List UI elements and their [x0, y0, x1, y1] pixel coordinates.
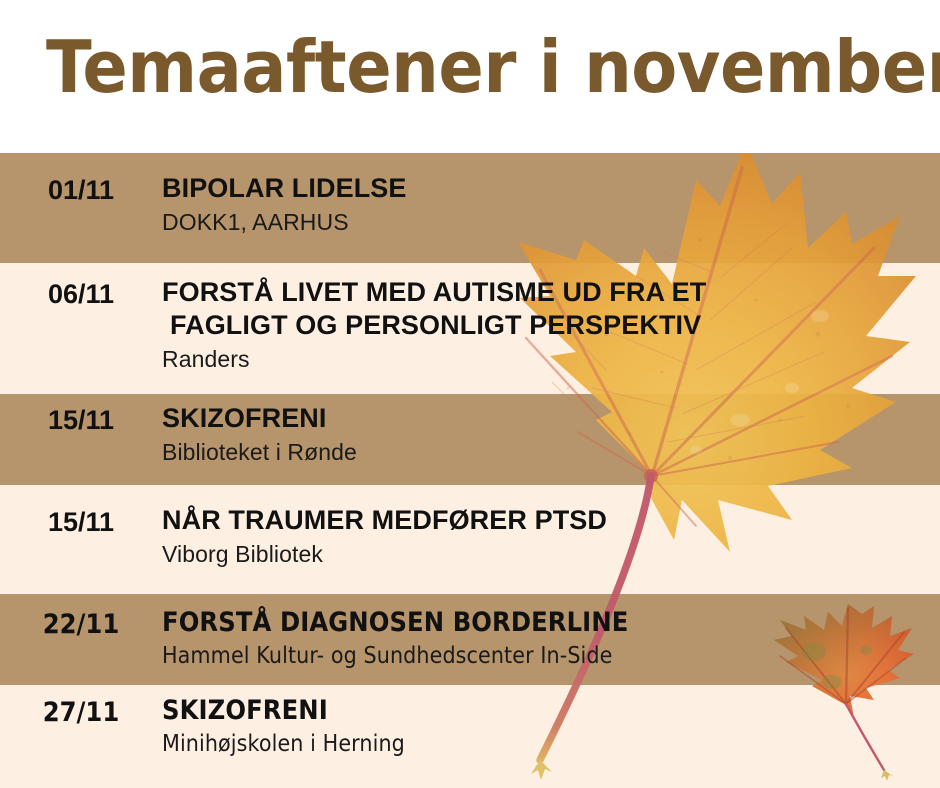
event-date: 27/11: [8, 694, 154, 729]
event-row: 22/11 FORSTÅ DIAGNOSEN BORDERLINE Hammel…: [0, 606, 940, 671]
event-date: 06/11: [0, 276, 162, 311]
event-row: 15/11 SKIZOFRENI Biblioteket i Rønde: [0, 402, 940, 467]
event-title-line1: SKIZOFRENI: [162, 695, 328, 726]
event-body: FORSTÅ DIAGNOSEN BORDERLINE Hammel Kultu…: [162, 606, 940, 671]
event-venue: DOKK1, AARHUS: [162, 205, 940, 237]
event-title: SKIZOFRENI: [162, 402, 940, 435]
page-title: Temaaftener i november: [46, 24, 846, 110]
event-body: NÅR TRAUMER MEDFØRER PTSD Viborg Bibliot…: [162, 504, 940, 569]
event-title-line1: NÅR TRAUMER MEDFØRER PTSD: [162, 505, 607, 535]
event-title-line1: BIPOLAR LIDELSE: [162, 173, 407, 203]
event-venue: Biblioteket i Rønde: [162, 435, 940, 467]
event-title: NÅR TRAUMER MEDFØRER PTSD: [162, 504, 940, 537]
event-title-line1: SKIZOFRENI: [162, 403, 327, 433]
event-body: SKIZOFRENI Biblioteket i Rønde: [162, 402, 940, 467]
event-row: 27/11 SKIZOFRENI Minihøjskolen i Herning: [0, 694, 940, 759]
event-row: 06/11 FORSTÅ LIVET MED AUTISME UD FRA ET…: [0, 276, 940, 374]
event-title-line2: FAGLIGT OG PERSONLIGT PERSPEKTIV: [162, 309, 940, 342]
event-venue: Minihøjskolen i Herning: [162, 727, 862, 759]
event-row: 01/11 BIPOLAR LIDELSE DOKK1, AARHUS: [0, 172, 940, 237]
event-venue: Hammel Kultur- og Sundhedscenter In-Side: [162, 639, 862, 671]
event-date: 22/11: [8, 606, 154, 641]
poster-canvas: Temaaftener i november 01/11 BIPOLAR LID…: [0, 0, 940, 788]
event-title-line1: FORSTÅ LIVET MED AUTISME UD FRA ET: [162, 277, 706, 307]
event-venue: Viborg Bibliotek: [162, 537, 940, 569]
event-date: 15/11: [0, 402, 162, 437]
event-title: BIPOLAR LIDELSE: [162, 172, 940, 205]
event-body: FORSTÅ LIVET MED AUTISME UD FRA ET FAGLI…: [162, 276, 940, 374]
event-title: SKIZOFRENI: [162, 694, 862, 727]
event-venue: Randers: [162, 342, 940, 374]
event-title: FORSTÅ DIAGNOSEN BORDERLINE: [162, 606, 862, 639]
event-body: SKIZOFRENI Minihøjskolen i Herning: [162, 694, 940, 759]
event-body: BIPOLAR LIDELSE DOKK1, AARHUS: [162, 172, 940, 237]
event-date: 01/11: [0, 172, 162, 207]
event-title-line1: FORSTÅ DIAGNOSEN BORDERLINE: [162, 607, 628, 638]
event-row: 15/11 NÅR TRAUMER MEDFØRER PTSD Viborg B…: [0, 504, 940, 569]
event-title: FORSTÅ LIVET MED AUTISME UD FRA ET FAGLI…: [162, 276, 940, 342]
title-banner: Temaaftener i november: [0, 0, 940, 153]
event-date: 15/11: [0, 504, 162, 539]
